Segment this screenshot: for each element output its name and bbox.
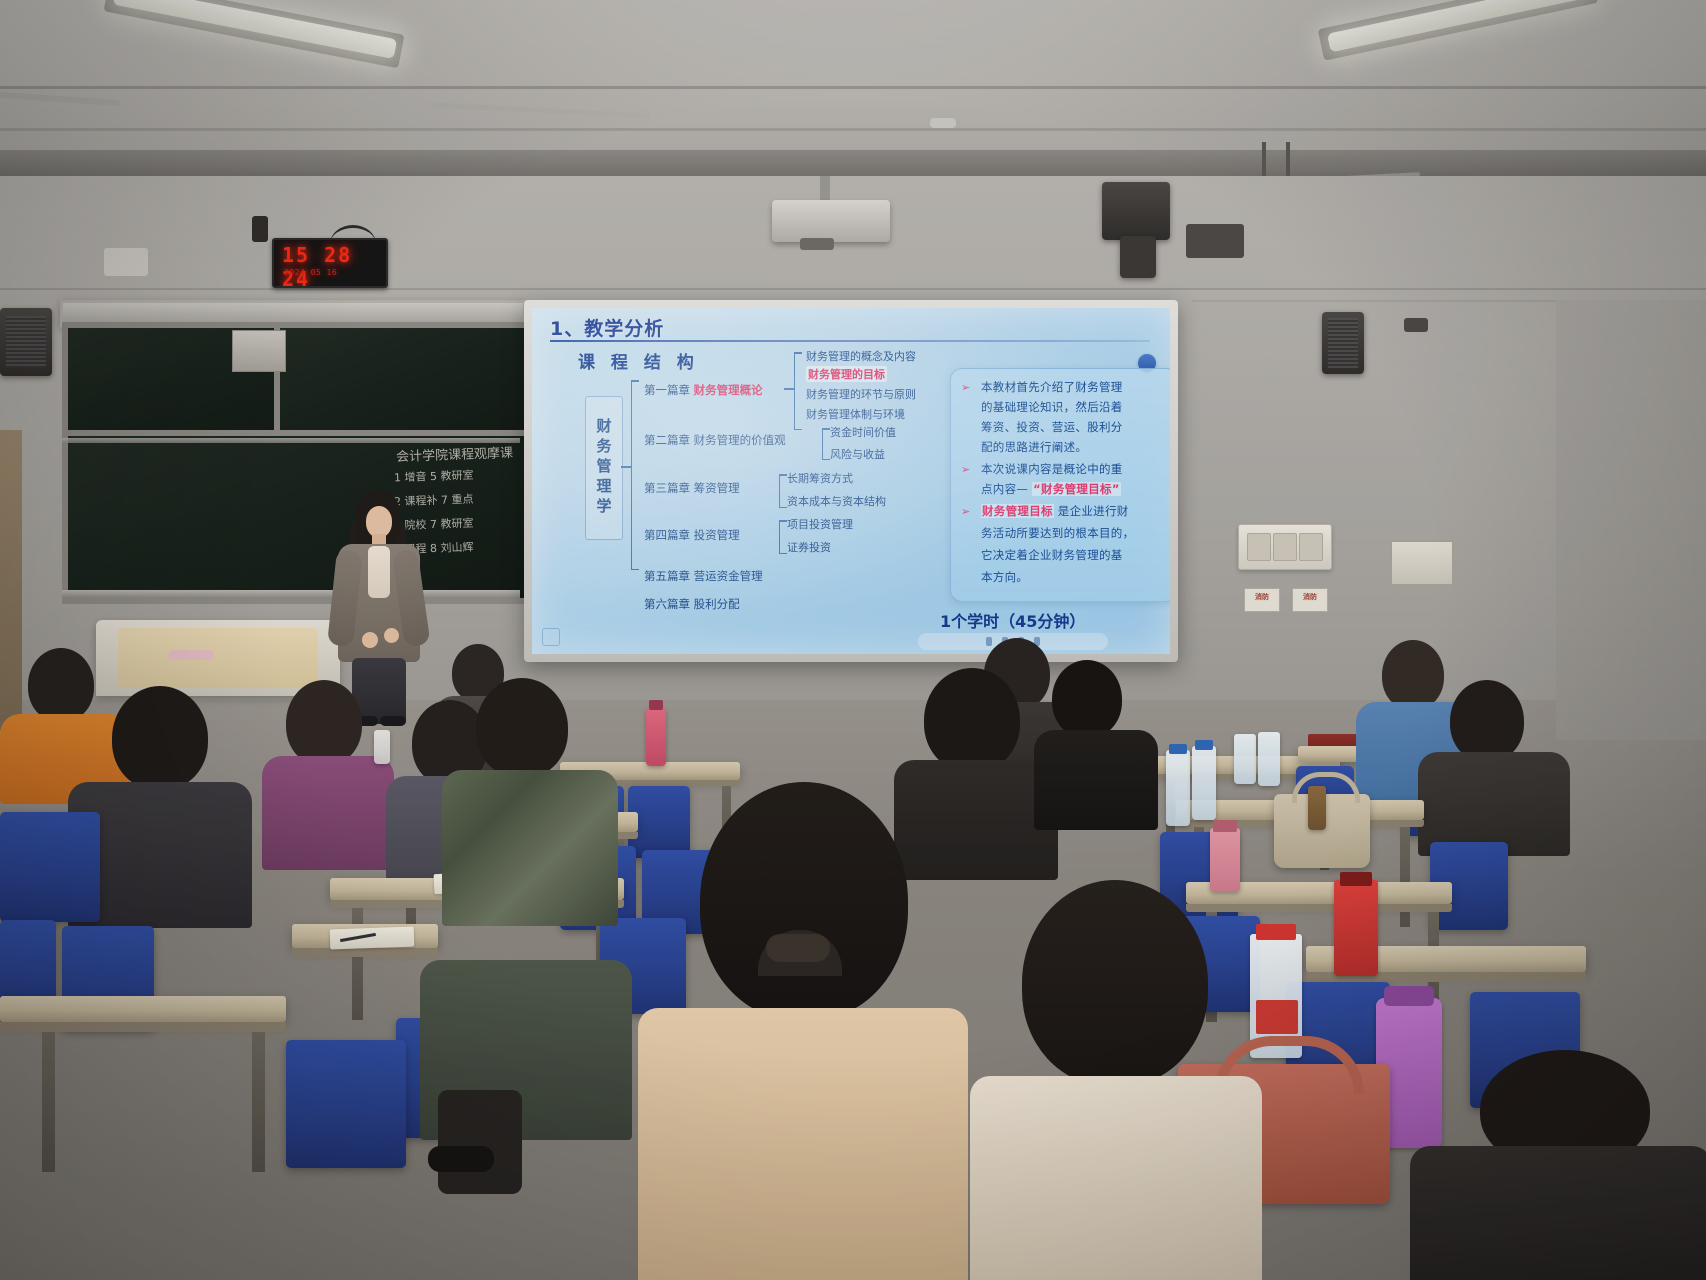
water-bottle (1234, 734, 1256, 784)
subtopic: 财务管理的概念及内容 (806, 348, 916, 364)
fire-sign-left: 消防 (1244, 588, 1280, 612)
chapter-no: 第四篇章 (644, 528, 690, 542)
bullet-arrow-icon: ➢ (961, 505, 970, 518)
chapter1-tick (784, 388, 794, 390)
note-highlight: 财务管理目标 (981, 504, 1054, 518)
torso (262, 756, 394, 870)
blackboard-line: 1 增音 5 教研室 (394, 467, 474, 486)
note-line: 点内容— “财务管理目标” (981, 481, 1121, 497)
chalk-tray (62, 590, 520, 598)
classroom-scene: 15 28 24 2024 05 16 会计学院课程观摩课 1 增音 5 教研室… (0, 0, 1706, 1280)
chapter-no: 第一篇章 (644, 383, 690, 397)
front-panel-insert (118, 628, 318, 688)
attendee (442, 678, 614, 918)
blackboard-heading: 会计学院课程观摩课 (396, 442, 514, 465)
desk-edge (292, 948, 438, 957)
chapter-name: 投资管理 (694, 528, 740, 542)
clock-time: 15 28 24 (282, 243, 378, 267)
right-wall-panel (1556, 300, 1706, 740)
blackboard-rail (62, 438, 520, 443)
desk (0, 996, 286, 1022)
slide-subtitle: 课 程 结 构 (578, 348, 699, 373)
head (286, 680, 362, 766)
thermos-cap (1213, 820, 1237, 832)
head (1450, 680, 1524, 762)
note-line: 本次说课内容是概论中的重 (981, 461, 1123, 477)
shoe (428, 1146, 494, 1172)
water-bottle (1192, 746, 1216, 820)
torso (1034, 730, 1158, 830)
chapter-row: 第六篇章 股利分配 (644, 596, 740, 612)
torso (638, 1008, 968, 1280)
subtopic-highlighted: 财务管理的目标 (806, 366, 887, 382)
desk-leg (1400, 827, 1410, 927)
note-line: 它决定着企业财务管理的基 (981, 547, 1123, 563)
bottle-cap (1256, 924, 1296, 940)
wall-plaque (1390, 540, 1454, 586)
head (1022, 880, 1208, 1086)
smoke-detector (930, 118, 956, 128)
head (700, 782, 908, 1020)
note-text: 是企业进行财 (1054, 504, 1129, 518)
chapter-name: 股利分配 (694, 597, 740, 611)
torso (1418, 752, 1570, 856)
bottle-cap (649, 700, 663, 710)
slide-title: 1、教学分析 (550, 314, 664, 341)
speaker-grill (6, 316, 46, 368)
desk-leg (252, 1032, 265, 1172)
note-line: 本方向。 (981, 569, 1028, 585)
subtopic: 资金时间价值 (830, 424, 896, 440)
subtopic: 长期筹资方式 (787, 470, 853, 486)
note-line: 筹资、投资、营运、股利分 (981, 419, 1123, 435)
chair[interactable] (286, 1040, 406, 1168)
chapter1-bracket (794, 352, 795, 430)
digital-clock: 15 28 24 2024 05 16 (272, 238, 388, 288)
chapter-name: 营运资金管理 (694, 569, 763, 583)
slide-footer: 1个学时（45分钟） (940, 608, 1085, 632)
attendee (1418, 680, 1568, 840)
torso (970, 1076, 1262, 1280)
note-line: 务活动所要达到的根本目的， (981, 525, 1134, 541)
slide-corner-mark (542, 628, 560, 646)
root-node-label: 财务管理学 (594, 418, 615, 518)
chapter-row: 第三篇章 筹资管理 (644, 480, 740, 496)
head (476, 678, 568, 778)
chapter-row: 第五篇章 营运资金管理 (644, 568, 763, 584)
leg (438, 1090, 522, 1194)
root-node: 财务管理学 (585, 396, 623, 540)
hand-left (362, 632, 378, 648)
fire-sign-right: 消防 (1292, 588, 1328, 612)
whiteboard-patch (232, 330, 286, 372)
attendee-foreground (1410, 1050, 1706, 1280)
projected-slide[interactable]: 1、教学分析 课 程 结 构 财务管理学 第一篇章 财务管理概论 财务管理的概念… (532, 308, 1170, 654)
note-line: 配的思路进行阐述。 (981, 439, 1087, 455)
torso (442, 770, 618, 926)
soda-bottle (1334, 880, 1378, 976)
chapter-name: 财务管理概论 (694, 383, 763, 397)
head (924, 668, 1020, 772)
notes-panel: ➢ 本教材首先介绍了财务管理 的基础理论知识，然后沿着 筹资、投资、营运、股利分… (950, 368, 1170, 602)
head (112, 686, 208, 790)
speaker-mount (1120, 236, 1156, 278)
attendee-foreground (638, 782, 968, 1280)
bottle-cap (1195, 740, 1213, 750)
projector (772, 200, 890, 242)
slide-title-text: 教学分析 (584, 318, 664, 340)
attendee (262, 680, 390, 850)
wall-outlet-panel[interactable] (1238, 524, 1332, 570)
fire-sign-label: 消防 (1293, 592, 1327, 602)
wall-box (104, 248, 148, 276)
bullet-arrow-icon: ➢ (961, 381, 970, 394)
slide-number: 1、 (550, 318, 584, 340)
trunk-tick (621, 466, 631, 468)
bottle-cap (1169, 744, 1187, 754)
desk-edge (0, 1022, 286, 1032)
note-text: 点内容— (981, 482, 1028, 496)
water-bottle (1166, 750, 1190, 826)
desk-leg (42, 1032, 55, 1172)
chair[interactable] (0, 812, 100, 922)
fire-sign-label: 消防 (1245, 592, 1279, 602)
projector-lens (800, 238, 834, 250)
attendee (1034, 660, 1154, 810)
subtopic: 财务管理的环节与原则 (806, 386, 916, 402)
note-highlight: “财务管理目标” (1032, 482, 1121, 496)
chapter3-bracket (779, 474, 780, 508)
wall-camera (1404, 318, 1428, 332)
note-line: 的基础理论知识，然后沿着 (981, 399, 1123, 415)
hair-clip (766, 934, 830, 962)
attendee-foreground (970, 880, 1260, 1280)
panel-label (168, 650, 214, 660)
ceiling-seam (0, 86, 1706, 89)
chapter-row: 第四篇章 投资管理 (644, 527, 740, 543)
bottle-cap (1340, 872, 1372, 886)
clock-date: 2024 05 16 (284, 266, 379, 282)
hand-right (384, 628, 399, 643)
note-line: 财务管理目标 是企业进行财 (981, 503, 1129, 519)
water-bottle (374, 730, 390, 764)
head (1052, 660, 1122, 738)
chapter2-bracket (822, 428, 823, 460)
chapter-row: 第一篇章 财务管理概论 (644, 382, 763, 398)
subtopic: 风险与收益 (830, 446, 885, 462)
thermos-cap (1384, 986, 1434, 1006)
subtopic: 证券投资 (787, 539, 831, 555)
chapter-name: 财务管理的价值观 (694, 433, 786, 447)
microphone (252, 216, 268, 242)
chapter-name: 筹资管理 (694, 481, 740, 495)
chapter-row: 第二篇章 财务管理的价值观 (644, 432, 786, 448)
subtopic: 项目投资管理 (787, 516, 853, 532)
inner-top (368, 546, 390, 598)
chapter-no: 第六篇章 (644, 597, 690, 611)
ceiling-beam (0, 150, 1706, 176)
slide-title-rule (550, 340, 1150, 342)
ceiling-seam (0, 128, 1706, 131)
attendee (420, 960, 630, 1200)
camera-housing (1186, 224, 1244, 258)
water-bottle (1258, 732, 1280, 786)
water-bottle (646, 708, 666, 766)
wall-seam (0, 288, 1706, 290)
chapter-no: 第三篇章 (644, 481, 690, 495)
chapter-no: 第二篇章 (644, 433, 690, 447)
subtopic: 资本成本与资本结构 (787, 493, 886, 509)
bottle-label (1256, 1000, 1298, 1034)
trunk-bracket (631, 380, 632, 570)
subtopic: 财务管理体制与环境 (806, 406, 905, 422)
chapter4-bracket (779, 520, 780, 554)
chapter-no: 第五篇章 (644, 569, 690, 583)
speaker-grill (1328, 318, 1358, 368)
bullet-arrow-icon: ➢ (961, 463, 970, 476)
torso (1410, 1146, 1706, 1280)
note-line: 本教材首先介绍了财务管理 (981, 379, 1123, 395)
speaker-left-front (1102, 182, 1170, 240)
projector-mount (820, 176, 830, 202)
bottle-in-bag (1308, 786, 1326, 830)
